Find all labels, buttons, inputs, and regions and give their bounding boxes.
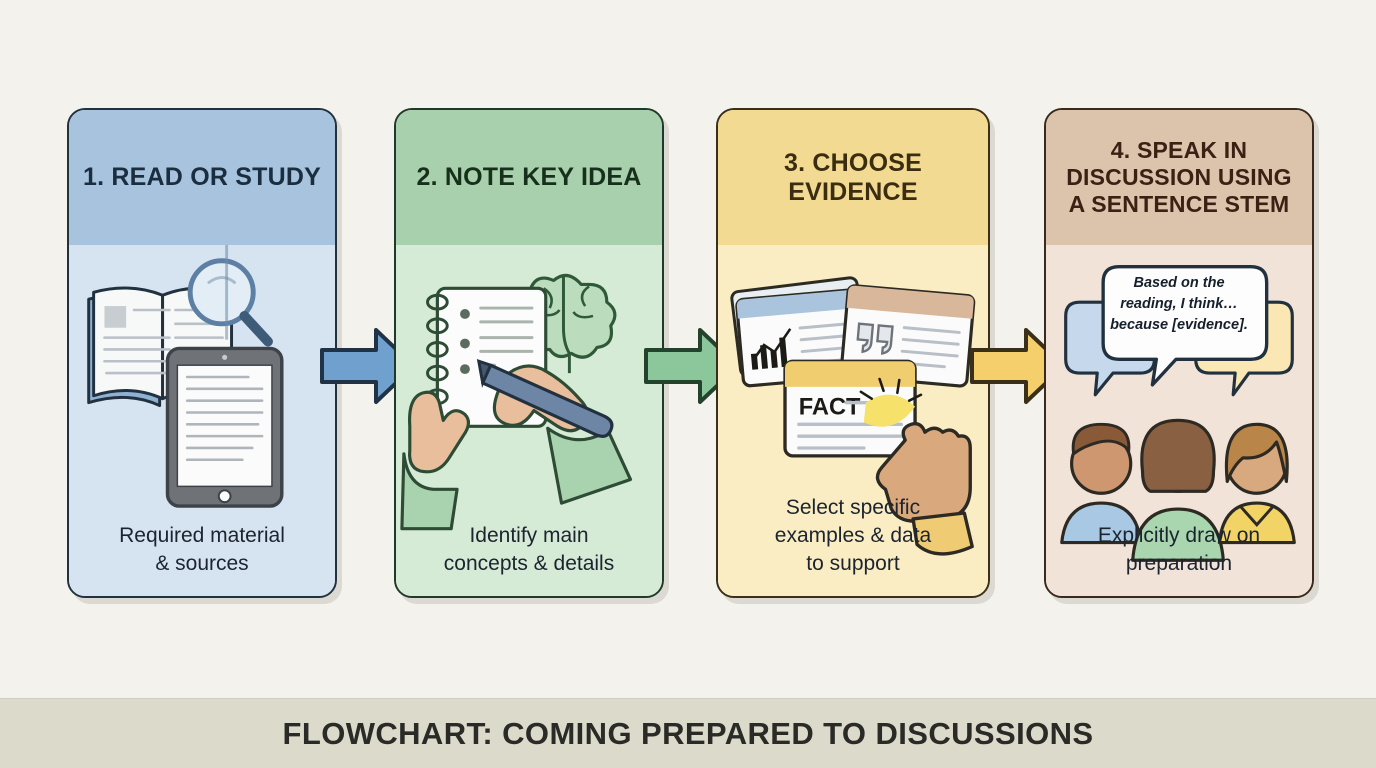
fact-card-label: FACT	[799, 394, 861, 420]
card-3-heading: 3. CHOOSE EVIDENCE	[728, 149, 978, 207]
card-4-body: Based on the reading, I think… because […	[1046, 245, 1312, 596]
card-3-header: 3. CHOOSE EVIDENCE	[718, 110, 988, 245]
card-2-caption: Identify main concepts & details	[396, 522, 662, 578]
card-4-caption: Explicitly draw on preparation	[1046, 522, 1312, 578]
card-4-header: 4. SPEAK IN DISCUSSION USING A SENTENCE …	[1046, 110, 1312, 245]
card-1-heading: 1. READ OR STUDY	[83, 163, 321, 192]
footer-title-text: FLOWCHART: COMING PREPARED TO DISCUSSION…	[283, 716, 1094, 752]
flowchart-canvas: 1. READ OR STUDY	[0, 0, 1376, 768]
tablet-icon	[168, 348, 282, 506]
flow-card-step-4[interactable]: 4. SPEAK IN DISCUSSION USING A SENTENCE …	[1044, 108, 1314, 598]
card-3-body: FACT	[718, 245, 988, 596]
footer-title-bar: FLOWCHART: COMING PREPARED TO DISCUSSION…	[0, 698, 1376, 768]
card-2-heading: 2. NOTE KEY IDEA	[416, 163, 641, 192]
card-3-caption: Select specific examples & data to suppo…	[718, 494, 988, 578]
flow-card-step-3[interactable]: 3. CHOOSE EVIDENCE	[716, 108, 990, 598]
card-2-header: 2. NOTE KEY IDEA	[396, 110, 662, 245]
card-1-caption: Required material & sources	[69, 522, 335, 578]
flow-card-step-1[interactable]: 1. READ OR STUDY	[67, 108, 337, 598]
card-1-header: 1. READ OR STUDY	[69, 110, 335, 245]
card-4-heading: 4. SPEAK IN DISCUSSION USING A SENTENCE …	[1056, 137, 1302, 218]
card-1-body: Required material & sources	[69, 245, 335, 596]
sentence-stem-text: Based on the reading, I think… because […	[1106, 273, 1252, 336]
flow-card-step-2[interactable]: 2. NOTE KEY IDEA	[394, 108, 664, 598]
card-2-body: Identify main concepts & details	[396, 245, 662, 596]
